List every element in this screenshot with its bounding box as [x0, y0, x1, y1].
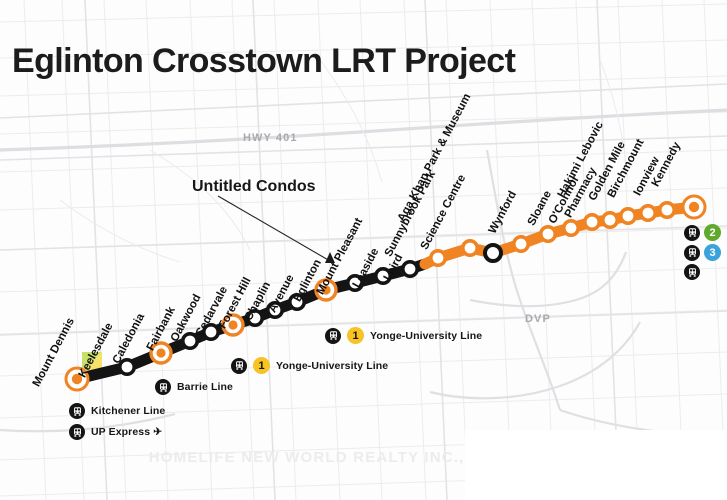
badge-go-train[interactable] — [684, 264, 721, 280]
legend-item-kitchener-line[interactable]: Kitchener Line — [69, 403, 165, 419]
subway-icon — [684, 225, 700, 241]
callout-pin-icon — [325, 252, 335, 263]
badge-line-2-bloor-danforth[interactable]: 2 — [684, 224, 721, 241]
subway-icon — [325, 328, 341, 344]
legend-label: Barrie Line — [177, 381, 233, 393]
east-terminus-badges: 23 — [684, 224, 721, 280]
legend-label: Kitchener Line — [91, 405, 165, 417]
legend-item-yonge-university-east[interactable]: 1Yonge-University Line — [325, 327, 482, 344]
line-3-badge[interactable]: 3 — [704, 244, 721, 261]
line-1-badge[interactable]: 1 — [347, 327, 364, 344]
callout-label: Untitled Condos — [192, 178, 316, 196]
legend-item-up-express[interactable]: UP Express ✈ — [69, 424, 162, 440]
line-2-badge[interactable]: 2 — [704, 224, 721, 241]
legend-label: Yonge-University Line — [370, 330, 482, 342]
subway-icon — [231, 358, 247, 374]
train-icon — [155, 379, 171, 395]
callout-leader-line — [218, 196, 330, 261]
line-1-badge[interactable]: 1 — [253, 357, 270, 374]
subway-icon — [684, 245, 700, 261]
legend-item-barrie-line[interactable]: Barrie Line — [155, 379, 233, 395]
legend-label: UP Express ✈ — [91, 426, 162, 438]
train-icon — [69, 424, 85, 440]
map-root: HOMELIFE NEW WORLD REALTY INC., BROKERAG… — [0, 0, 727, 500]
badge-line-3-scarborough[interactable]: 3 — [684, 244, 721, 261]
legend-item-yonge-university-west[interactable]: 1Yonge-University Line — [231, 357, 388, 374]
train-icon — [69, 403, 85, 419]
legend-label: Yonge-University Line — [276, 360, 388, 372]
train-icon — [684, 264, 700, 280]
